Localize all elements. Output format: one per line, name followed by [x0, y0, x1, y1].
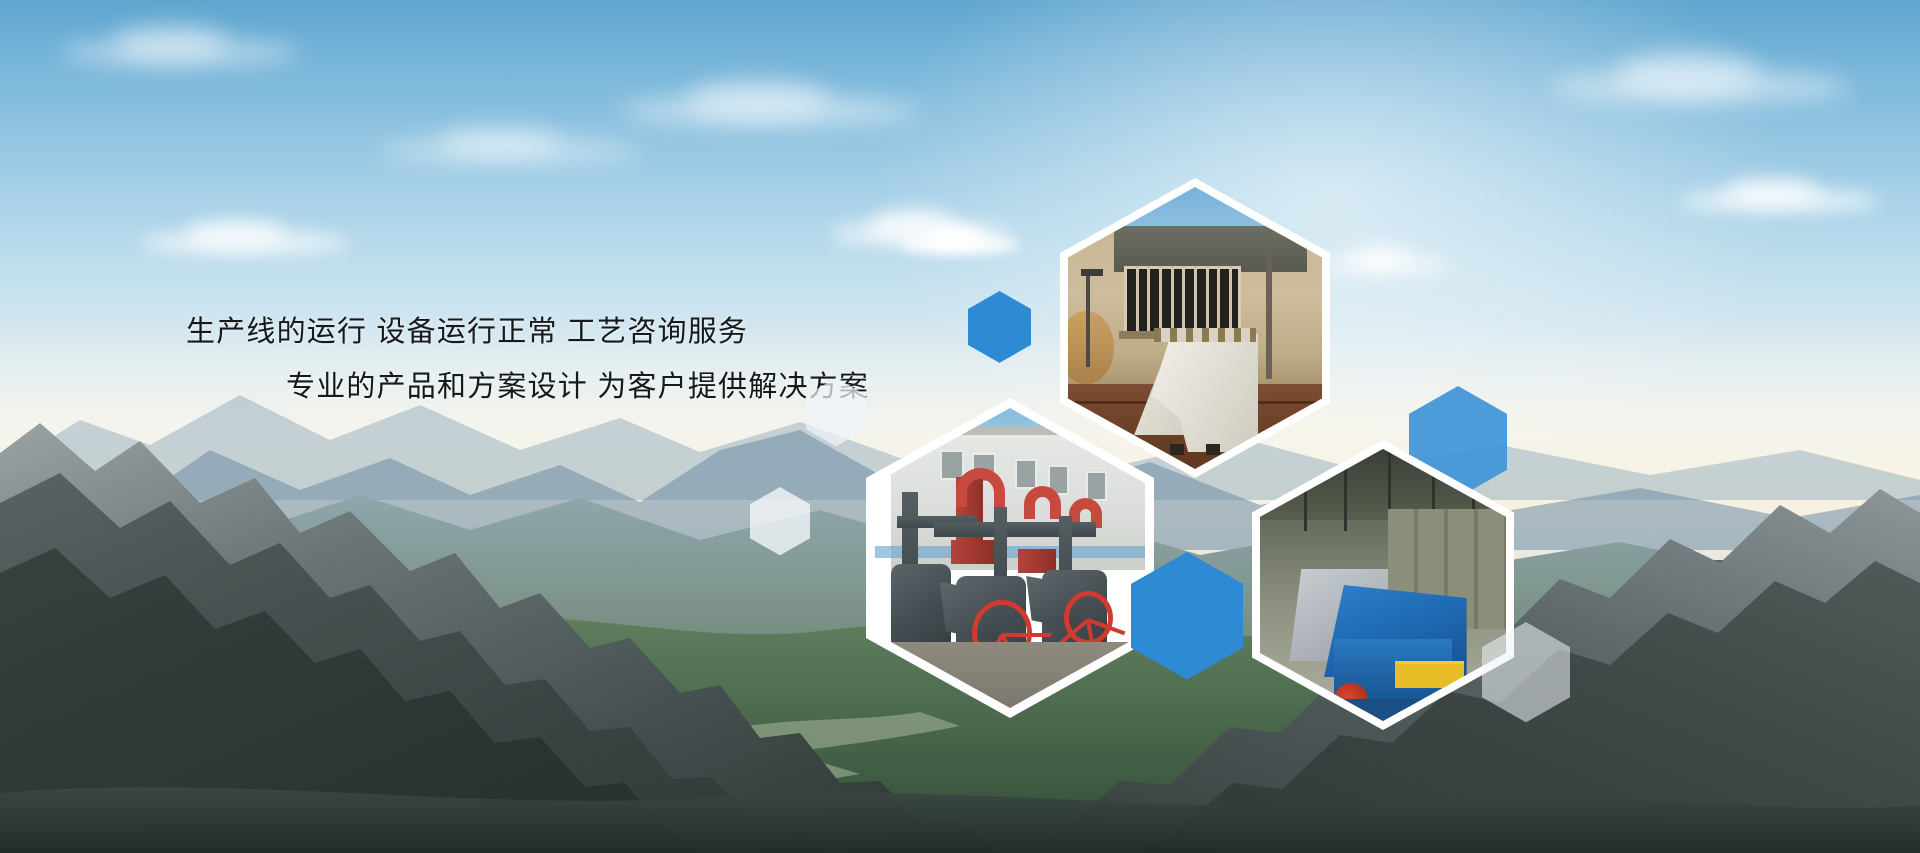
- headline-line-1: 生产线的运行 设备运行正常 工艺咨询服务: [186, 318, 946, 347]
- cloud-puff-9: [1616, 51, 1760, 94]
- cloud-puff-3: [686, 80, 830, 118]
- cloud-puff-1: [113, 26, 228, 59]
- hero-banner: 生产线的运行 设备运行正常 工艺咨询服务 专业的产品和方案设计 为客户提供解决方…: [0, 0, 1920, 853]
- cloud-puff-8: [1349, 246, 1411, 269]
- cloud-puff-5: [926, 226, 984, 249]
